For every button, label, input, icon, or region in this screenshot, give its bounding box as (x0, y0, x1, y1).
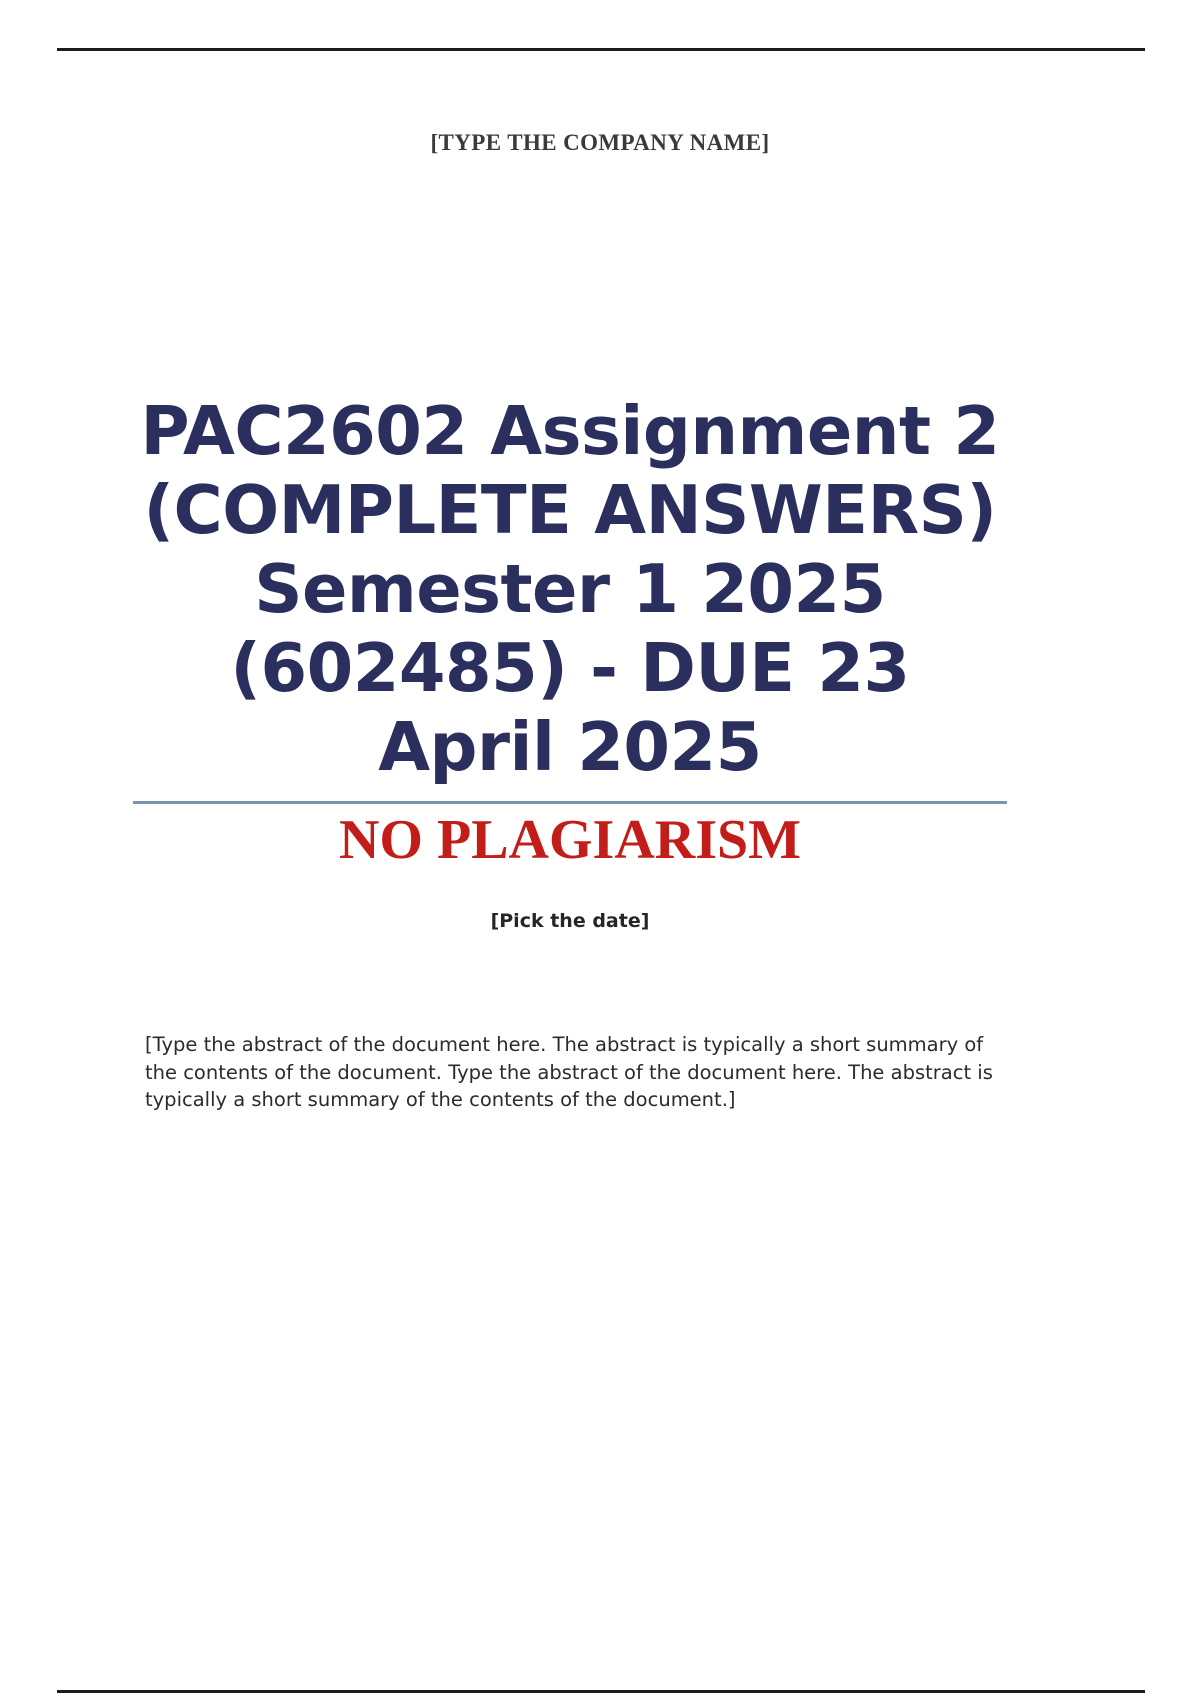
cover-page: [TYPE THE COMPANY NAME] PAC2602 Assignme… (0, 0, 1200, 1700)
document-title: PAC2602 Assignment 2 (COMPLETE ANSWERS) … (133, 392, 1007, 787)
bottom-page-rule (57, 1690, 1145, 1693)
abstract-paragraph[interactable]: [Type the abstract of the document here.… (145, 1031, 1001, 1114)
company-name-placeholder[interactable]: [TYPE THE COMPANY NAME] (0, 130, 1200, 156)
title-block: PAC2602 Assignment 2 (COMPLETE ANSWERS) … (133, 392, 1007, 872)
date-placeholder[interactable]: [Pick the date] (133, 910, 1007, 932)
top-page-rule (57, 48, 1145, 51)
no-plagiarism-subtitle: NO PLAGIARISM (133, 804, 1007, 872)
